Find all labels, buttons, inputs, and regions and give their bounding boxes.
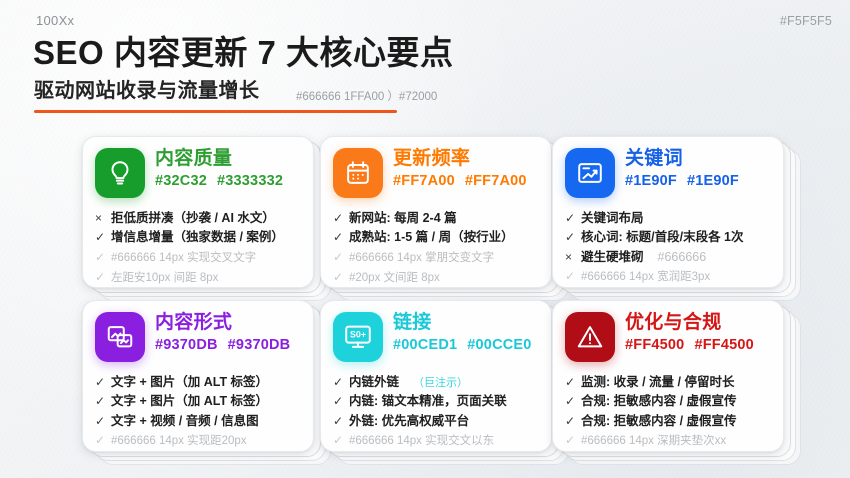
card-bullet-item: ✓外链: 优先高权威平台 [333,412,539,431]
card-bullet-text: #666666 14px 深期夹垫次xx [581,433,726,451]
card-bullet-text: 增信息增量（独家数据 / 案例） [111,228,284,247]
card-bullet-text: 拒低质拼凑（抄袭 / AI 水文） [111,209,275,228]
card-bullet-text: 合规: 拒敏感内容 / 虚假宣传 [581,412,737,431]
check-icon: ✓ [565,412,575,431]
card-header-text: 更新频率#FF7A00#FF7A00 [393,148,539,189]
card-bullet-item: ✓监测: 收录 / 流量 / 停留时长 [565,373,771,392]
cross-icon: × [565,248,575,267]
card-bullet-item: ✓内链外链（巨注示） [333,373,539,392]
color-code: #1E90F [687,173,739,189]
card-bullet-item: ✓#666666 14px 宽润距3px [565,267,771,287]
color-code: #00CCE0 [467,337,531,353]
card-header-text: 内容质量#32C32#3333332 [155,148,301,189]
check-icon: ✓ [95,373,105,392]
check-icon: ✓ [565,373,575,392]
card-bullet-text: #666666 14px 实现交叉文字 [111,250,256,268]
card-bullet-item: ×避生硬堆砌#666666 [565,248,771,267]
card-bullet-list: ✓内链外链（巨注示）✓内链: 锚文本精准，页面关联✓外链: 优先高权威平台✓#6… [333,373,539,451]
subtitle-spec-note: #666666 1FFA00 ）#72000 [296,88,437,104]
check-icon: ✓ [333,392,343,411]
check-icon: ✓ [333,268,343,287]
card-color-codes: #FF7A00#FF7A00 [393,173,539,189]
check-icon: ✓ [95,228,105,247]
card-header-text: 优化与合规#FF4500#FF4500 [625,312,771,353]
card-header: 更新频率#FF7A00#FF7A00 [333,148,539,204]
check-icon: ✓ [95,268,105,287]
card-bullet-text: 内链: 锚文本精准，页面关联 [349,392,507,411]
color-code: #FF7A00 [465,173,527,189]
card-bullet-list: ✓新网站: 每周 2-4 篇✓成熟站: 1-5 篇 / 周（按行业）✓#6666… [333,209,539,287]
card-color-codes: #FF4500#FF4500 [625,337,771,353]
card-bullet-item: ✓#666666 14px 实现交文以东 [333,431,539,451]
info-card[interactable]: 更新频率#FF7A00#FF7A00✓新网站: 每周 2-4 篇✓成熟站: 1-… [320,136,552,288]
card-color-codes: #9370DB#9370DB [155,337,301,353]
card-bullet-text: 避生硬堆砌 [581,248,644,267]
card-bullet-item: ✓内链: 锚文本精准，页面关联 [333,392,539,411]
check-icon: ✓ [565,228,575,247]
background-color-tag: #F5F5F5 [780,14,832,28]
card-bullet-list: ✓文字 + 图片（加 ALT 标签）✓文字 + 图片（加 ALT 标签）✓文字 … [95,373,301,451]
card-bullet-text: 核心词: 标题/首段/末段各 1次 [581,228,744,247]
check-icon: ✓ [333,431,343,450]
card-bullet-item: ✓文字 + 图片（加 ALT 标签） [95,392,301,411]
info-card[interactable]: 内容形式#9370DB#9370DB✓文字 + 图片（加 ALT 标签）✓文字 … [82,300,314,452]
card-bullet-text: #666666 14px 宽润距3px [581,269,710,287]
card-bullet-item: ✓#666666 14px 掌朋交变文字 [333,248,539,268]
card-header-text: 内容形式#9370DB#9370DB [155,312,301,353]
check-icon: ✓ [95,431,105,450]
card-bullet-item: ✓合规: 拒敏感内容 / 虚假宣传 [565,412,771,431]
info-card[interactable]: 关键词#1E90F#1E90F✓关键词布局✓核心词: 标题/首段/末段各 1次×… [552,136,784,288]
seo-monitor-icon: S0+ [333,312,383,362]
color-code: #FF4500 [625,337,684,353]
check-icon: ✓ [333,248,343,267]
card-header-text: 链接#00CED1#00CCE0 [393,312,539,353]
header-divider [34,110,397,113]
check-icon: ✓ [565,392,575,411]
card-title: 链接 [393,313,539,333]
card-bullet-item: ✓关键词布局 [565,209,771,228]
card-bullet-text: 文字 + 图片（加 ALT 标签） [111,392,268,411]
card-slot: 内容形式#9370DB#9370DB✓文字 + 图片（加 ALT 标签）✓文字 … [82,300,314,452]
card-bullet-item: ✓新网站: 每周 2-4 篇 [333,209,539,228]
card-bullet-text: 外链: 优先高权威平台 [349,412,469,431]
check-icon: ✓ [95,412,105,431]
card-slot: 优化与合规#FF4500#FF4500✓监测: 收录 / 流量 / 停留时长✓合… [552,300,784,452]
color-code: #FF7A00 [393,173,455,189]
check-icon: ✓ [333,412,343,431]
card-bullet-item: ✓成熟站: 1-5 篇 / 周（按行业） [333,228,539,247]
card-bullet-text: #666666 14px 掌朋交变文字 [349,250,494,268]
card-bullet-text: #666666 14px 实现距20px [111,433,247,451]
check-icon: ✓ [333,209,343,228]
card-color-codes: #00CED1#00CCE0 [393,337,539,353]
card-header: 内容质量#32C32#3333332 [95,148,301,204]
check-icon: ✓ [565,209,575,228]
color-code: #9370DB [155,337,218,353]
card-bullet-item: ✓#666666 14px 深期夹垫次xx [565,431,771,451]
card-bullet-text: #666666 14px 实现交文以东 [349,433,494,451]
card-bullet-text: 监测: 收录 / 流量 / 停留时长 [581,373,734,392]
media-image-icon [95,312,145,362]
card-title: 内容形式 [155,313,301,333]
card-header: 内容形式#9370DB#9370DB [95,312,301,368]
card-slot: 更新频率#FF7A00#FF7A00✓新网站: 每周 2-4 篇✓成熟站: 1-… [320,136,552,288]
svg-text:S0+: S0+ [350,330,366,340]
slide-header: 100Xx #F5F5F5 SEO 内容更新 7 大核心要点 驱动网站收录与流量… [0,0,850,122]
card-header-text: 关键词#1E90F#1E90F [625,148,771,189]
card-slot: 内容质量#32C32#3333332×拒低质拼凑（抄袭 / AI 水文）✓增信息… [82,136,314,288]
check-icon: ✓ [95,392,105,411]
card-bullet-tag: （巨注示） [413,375,468,392]
color-code: #32C32 [155,173,207,189]
slide-root: 100Xx #F5F5F5 SEO 内容更新 7 大核心要点 驱动网站收录与流量… [0,0,850,478]
card-grid: 内容质量#32C32#3333332×拒低质拼凑（抄袭 / AI 水文）✓增信息… [0,128,850,478]
page-subtitle: 驱动网站收录与流量增长 [34,74,260,103]
card-bullet-text: 成熟站: 1-5 篇 / 周（按行业） [349,228,514,247]
card-bullet-item: ✓左距安10px 间距 8px [95,268,301,288]
card-bullet-text: #20px 文间距 8px [349,270,440,288]
warning-triangle-icon [565,312,615,362]
page-title: SEO 内容更新 7 大核心要点 [33,26,454,74]
card-header: 关键词#1E90F#1E90F [565,148,771,204]
check-icon: ✓ [565,267,575,286]
info-card[interactable]: 内容质量#32C32#3333332×拒低质拼凑（抄袭 / AI 水文）✓增信息… [82,136,314,288]
card-bullet-list: ✓关键词布局✓核心词: 标题/首段/末段各 1次×避生硬堆砌#666666✓#6… [565,209,771,287]
card-bullet-text: 合规: 拒敏感内容 / 虚假宣传 [581,392,737,411]
card-title: 优化与合规 [625,313,771,333]
color-code: #FF4500 [694,337,753,353]
card-bullet-list: ×拒低质拼凑（抄袭 / AI 水文）✓增信息增量（独家数据 / 案例）✓#666… [95,209,301,287]
card-slot: S0+ 链接#00CED1#00CCE0✓内链外链（巨注示）✓内链: 锚文本精准… [320,300,552,452]
card-bullet-text: 关键词布局 [581,209,644,228]
card-bullet-list: ✓监测: 收录 / 流量 / 停留时长✓合规: 拒敏感内容 / 虚假宣传✓合规:… [565,373,771,451]
card-color-codes: #32C32#3333332 [155,173,301,189]
cross-icon: × [95,209,105,228]
lightbulb-icon [95,148,145,198]
info-card[interactable]: 优化与合规#FF4500#FF4500✓监测: 收录 / 流量 / 停留时长✓合… [552,300,784,452]
card-bullet-item: ✓合规: 拒敏感内容 / 虚假宣传 [565,392,771,411]
card-bullet-item: ✓#666666 14px 实现交叉文字 [95,248,301,268]
color-code: #1E90F [625,173,677,189]
card-bullet-text: 内链外链 [349,373,399,392]
color-code: #3333332 [217,173,283,189]
card-bullet-item: ✓#20px 文间距 8px [333,268,539,288]
card-bullet-item: ✓#666666 14px 实现距20px [95,431,301,451]
card-bullet-dim-note: #666666 [658,248,707,267]
chart-monitor-icon [565,148,615,198]
check-icon: ✓ [333,373,343,392]
check-icon: ✓ [333,228,343,247]
card-color-codes: #1E90F#1E90F [625,173,771,189]
card-bullet-text: 左距安10px 间距 8px [111,270,218,288]
card-bullet-text: 文字 + 视频 / 音频 / 信息图 [111,412,259,431]
card-title: 内容质量 [155,149,301,169]
card-bullet-item: ✓文字 + 视频 / 音频 / 信息图 [95,412,301,431]
card-bullet-item: ✓核心词: 标题/首段/末段各 1次 [565,228,771,247]
calendar-icon [333,148,383,198]
card-bullet-text: 文字 + 图片（加 ALT 标签） [111,373,268,392]
color-code: #00CED1 [393,337,457,353]
check-icon: ✓ [95,248,105,267]
card-bullet-item: ×拒低质拼凑（抄袭 / AI 水文） [95,209,301,228]
color-code: #9370DB [228,337,291,353]
card-title: 关键词 [625,149,771,169]
card-header: S0+ 链接#00CED1#00CCE0 [333,312,539,368]
card-header: 优化与合规#FF4500#FF4500 [565,312,771,368]
card-bullet-item: ✓文字 + 图片（加 ALT 标签） [95,373,301,392]
card-slot: 关键词#1E90F#1E90F✓关键词布局✓核心词: 标题/首段/末段各 1次×… [552,136,784,288]
card-title: 更新频率 [393,149,539,169]
check-icon: ✓ [565,431,575,450]
card-bullet-item: ✓增信息增量（独家数据 / 案例） [95,228,301,247]
info-card[interactable]: S0+ 链接#00CED1#00CCE0✓内链外链（巨注示）✓内链: 锚文本精准… [320,300,552,452]
card-bullet-text: 新网站: 每周 2-4 篇 [349,209,457,228]
